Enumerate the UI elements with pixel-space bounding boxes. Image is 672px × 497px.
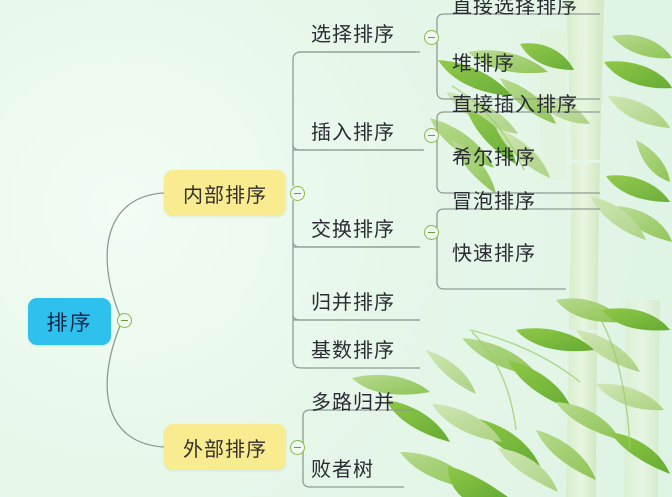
node-bubble-sort[interactable]: 冒泡排序 [452,191,536,211]
node-shell-sort[interactable]: 希尔排序 [452,147,536,167]
node-external-sort-label: 外部排序 [183,433,267,462]
node-direct-insertion-sort[interactable]: 直接插入排序 [452,94,578,114]
node-quick-sort[interactable]: 快速排序 [452,243,536,263]
mindmap-canvas: 排序 内部排序 外部排序 选择排序 插入排序 交换排序 归并排序 基数排序 直接… [0,0,672,497]
node-internal-sort-label: 内部排序 [183,179,267,208]
node-root-label: 排序 [47,307,93,337]
node-internal-sort[interactable]: 内部排序 [164,170,286,216]
node-multiway-merge[interactable]: 多路归并 [311,392,395,412]
node-insertion-sort[interactable]: 插入排序 [311,122,395,142]
toggle-external-sort[interactable] [290,440,305,455]
toggle-selection-sort[interactable] [424,30,439,45]
node-radix-sort[interactable]: 基数排序 [311,340,395,360]
node-loser-tree[interactable]: 败者树 [311,459,374,479]
toggle-root[interactable] [117,313,132,328]
node-direct-selection-sort[interactable]: 直接选择排序 [452,0,578,16]
node-external-sort[interactable]: 外部排序 [164,424,286,470]
node-exchange-sort[interactable]: 交换排序 [311,219,395,239]
node-heap-sort[interactable]: 堆排序 [452,53,515,73]
toggle-insertion-sort[interactable] [424,128,439,143]
mindmap-nodes: 排序 内部排序 外部排序 选择排序 插入排序 交换排序 归并排序 基数排序 直接… [0,0,672,497]
node-selection-sort[interactable]: 选择排序 [311,24,395,44]
toggle-internal-sort[interactable] [290,186,305,201]
toggle-exchange-sort[interactable] [424,225,439,240]
node-root[interactable]: 排序 [28,298,111,345]
node-merge-sort[interactable]: 归并排序 [311,292,395,312]
